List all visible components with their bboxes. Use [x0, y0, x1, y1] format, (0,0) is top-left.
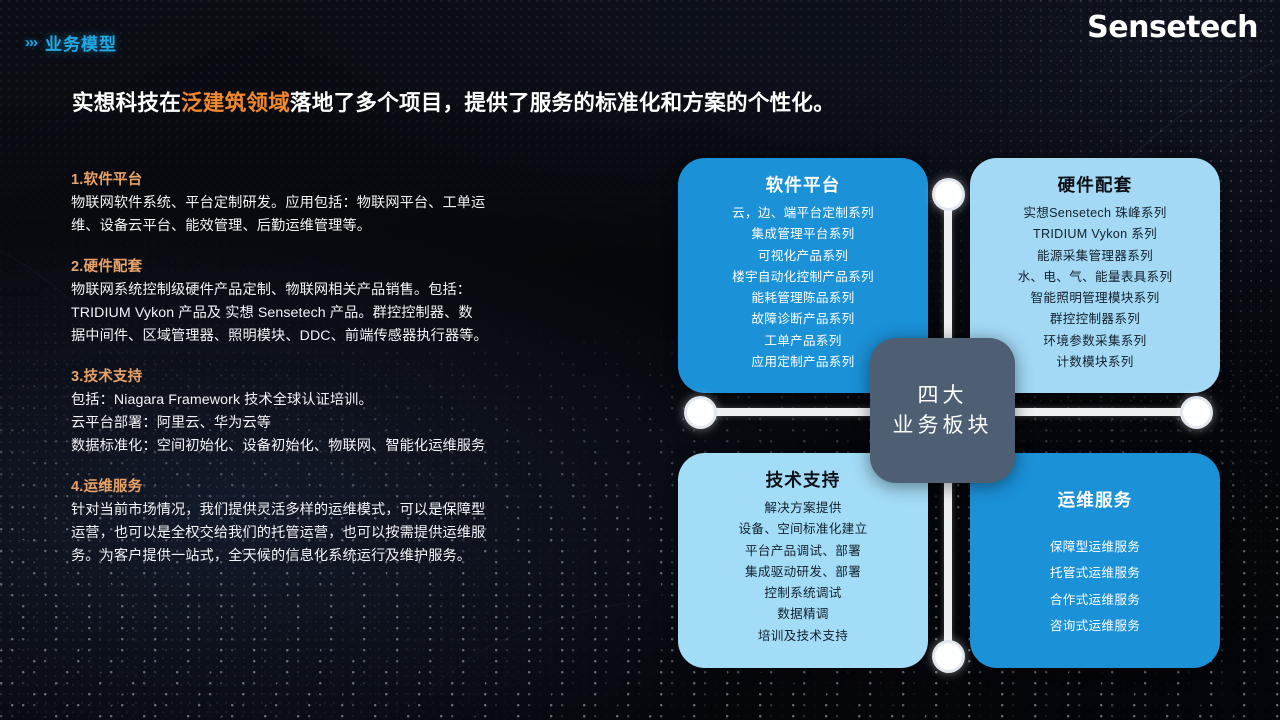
- business-model-diagram: 软件平台 云，边、端平台定制系列 集成管理平台系列 可视化产品系列 楼宇自动化控…: [640, 140, 1260, 685]
- section-body-line: 务。为客户提供一站式，全天候的信息化系统运行及维护服务。: [71, 545, 566, 568]
- section-heading: 1.软件平台: [71, 168, 566, 189]
- section-body-line: 运营，也可以是全权交给我们的托管运营，也可以按需提供运维服: [71, 522, 566, 545]
- connector-node-right: [1180, 396, 1213, 429]
- card-list-item: 计数模块系列: [1056, 353, 1133, 371]
- card-list-item: 智能照明管理模块系列: [1031, 289, 1160, 307]
- card-list-item: 保障型运维服务: [1050, 538, 1140, 556]
- connector-node-left: [684, 396, 717, 429]
- card-item-list: 保障型运维服务 托管式运维服务 合作式运维服务 咨询式运维服务: [970, 538, 1220, 635]
- chevron-right-icon: ›››: [25, 35, 36, 50]
- card-technical-support[interactable]: 技术支持 解决方案提供 设备、空间标准化建立 平台产品调试、部署 集成驱动研发、…: [678, 453, 928, 668]
- section-body-line: 云平台部署：阿里云、华为云等: [71, 412, 566, 435]
- section-body-line: 针对当前市场情况，我们提供灵活多样的运维模式，可以是保障型: [71, 499, 566, 522]
- card-list-item: 咨询式运维服务: [1050, 617, 1140, 635]
- card-list-item: 水、电、气、能量表具系列: [1018, 268, 1173, 286]
- hub-label-line-2: 业务板块: [893, 411, 993, 441]
- connector-node-top: [932, 178, 965, 211]
- page-title: 实想科技在泛建筑领域落地了多个项目，提供了服务的标准化和方案的个性化。: [72, 86, 835, 117]
- card-list-item: 能源采集管理器系列: [1037, 247, 1153, 265]
- section-body-line: 数据标准化：空间初始化、设备初始化、物联网、智能化运维服务: [71, 435, 566, 458]
- card-list-item: 设备、空间标准化建立: [739, 520, 868, 538]
- content-section: 2.硬件配套 物联网系统控制级硬件产品定制、物联网相关产品销售。包括： TRID…: [71, 255, 566, 348]
- section-heading: 3.技术支持: [71, 365, 566, 386]
- section-kicker: ››› 业务模型: [25, 30, 117, 55]
- section-body-line: 维、设备云平台、能效管理、后勤运维管理等。: [71, 215, 566, 238]
- card-list-item: 实想Sensetech 珠峰系列: [1023, 204, 1166, 222]
- diagram-hub[interactable]: 四大 业务板块: [870, 338, 1015, 483]
- section-body-line: 物联网系统控制级硬件产品定制、物联网相关产品销售。包括：: [71, 279, 566, 302]
- card-list-item: 环境参数采集系列: [1043, 332, 1146, 350]
- brand-logo: Sensetech: [1087, 10, 1258, 45]
- card-item-list: 解决方案提供 设备、空间标准化建立 平台产品调试、部署 集成驱动研发、部署 控制…: [678, 499, 928, 645]
- card-list-item: 故障诊断产品系列: [751, 310, 854, 328]
- card-list-item: 合作式运维服务: [1050, 591, 1140, 609]
- card-list-item: 数据精调: [777, 605, 829, 623]
- content-section: 4.运维服务 针对当前市场情况，我们提供灵活多样的运维模式，可以是保障型 运营，…: [71, 475, 566, 568]
- card-title: 硬件配套: [970, 172, 1220, 197]
- section-heading: 2.硬件配套: [71, 255, 566, 276]
- card-list-item: 能耗管理陈品系列: [751, 289, 854, 307]
- card-list-item: TRIDIUM Vykon 系列: [1033, 225, 1157, 243]
- card-list-item: 云，边、端平台定制系列: [732, 204, 874, 222]
- content-section: 3.技术支持 包括：Niagara Framework 技术全球认证培训。 云平…: [71, 365, 566, 458]
- card-list-item: 平台产品调试、部署: [745, 542, 861, 560]
- content-sections: 1.软件平台 物联网软件系统、平台定制研发。应用包括：物联网平台、工单运 维、设…: [71, 168, 566, 568]
- card-operations-service[interactable]: 运维服务 保障型运维服务 托管式运维服务 合作式运维服务 咨询式运维服务: [970, 453, 1220, 668]
- headline-before: 实想科技在: [72, 91, 181, 115]
- hub-label-line-1: 四大: [918, 381, 968, 411]
- section-body-line: 包括：Niagara Framework 技术全球认证培训。: [71, 389, 566, 412]
- section-body: 物联网系统控制级硬件产品定制、物联网相关产品销售。包括： TRIDIUM Vyk…: [71, 279, 566, 348]
- card-list-item: 托管式运维服务: [1050, 564, 1140, 582]
- card-list-item: 群控控制器系列: [1050, 310, 1140, 328]
- section-body-line: TRIDIUM Vykon 产品及 实想 Sensetech 产品。群控控制器、…: [71, 302, 566, 325]
- card-list-item: 集成驱动研发、部署: [745, 563, 861, 581]
- section-body: 物联网软件系统、平台定制研发。应用包括：物联网平台、工单运 维、设备云平台、能效…: [71, 192, 566, 238]
- card-list-item: 可视化产品系列: [758, 247, 848, 265]
- section-body-line: 物联网软件系统、平台定制研发。应用包括：物联网平台、工单运: [71, 192, 566, 215]
- section-body: 针对当前市场情况，我们提供灵活多样的运维模式，可以是保障型 运营，也可以是全权交…: [71, 499, 566, 568]
- card-list-item: 楼宇自动化控制产品系列: [732, 268, 874, 286]
- headline-highlight: 泛建筑领域: [181, 91, 290, 115]
- card-title: 运维服务: [970, 487, 1220, 512]
- section-body: 包括：Niagara Framework 技术全球认证培训。 云平台部署：阿里云…: [71, 389, 566, 458]
- section-heading: 4.运维服务: [71, 475, 566, 496]
- content-section: 1.软件平台 物联网软件系统、平台定制研发。应用包括：物联网平台、工单运 维、设…: [71, 168, 566, 238]
- card-list-item: 解决方案提供: [764, 499, 841, 517]
- connector-node-bottom: [932, 640, 965, 673]
- card-list-item: 集成管理平台系列: [751, 225, 854, 243]
- card-list-item: 应用定制产品系列: [751, 353, 854, 371]
- section-body-line: 据中间件、区域管理器、照明模块、DDC、前端传感器执行器等。: [71, 325, 566, 348]
- card-list-item: 控制系统调试: [764, 584, 841, 602]
- slide-root: ››› 业务模型 Sensetech 实想科技在泛建筑领域落地了多个项目，提供了…: [0, 0, 1280, 720]
- card-title: 软件平台: [678, 172, 928, 197]
- card-list-item: 培训及技术支持: [758, 627, 848, 645]
- card-list-item: 工单产品系列: [764, 332, 841, 350]
- section-kicker-label: 业务模型: [45, 30, 117, 55]
- headline-after: 落地了多个项目，提供了服务的标准化和方案的个性化。: [290, 91, 835, 115]
